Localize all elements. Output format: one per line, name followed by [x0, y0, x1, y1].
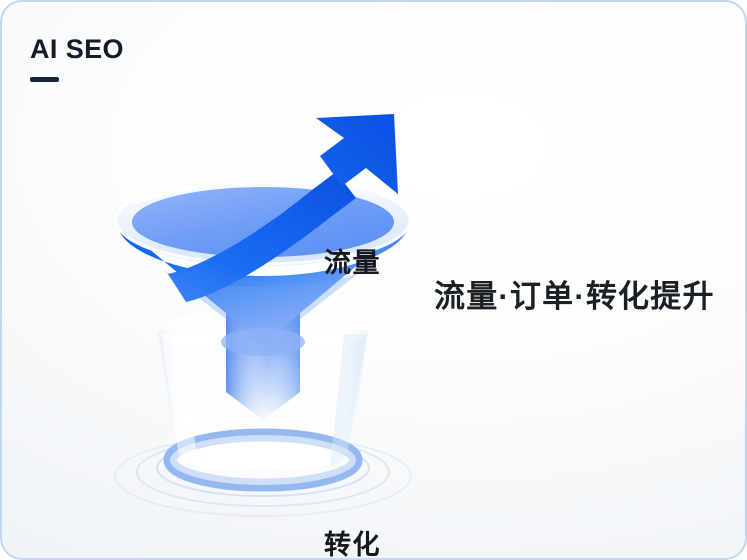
conversion-funnel-illustration: 流量 转化 [98, 98, 428, 528]
page-title: AI SEO [30, 36, 124, 63]
title-underline-rule-icon [30, 77, 59, 82]
title-block: AI SEO [30, 36, 124, 82]
funnel-graphic-icon [98, 98, 428, 528]
slide-canvas: AI SEO 流量·订单·转化提升 [0, 0, 747, 560]
tagline-text: 流量·订单·转化提升 [434, 278, 715, 315]
funnel-label-conversion: 转化 [324, 532, 381, 559]
funnel-label-traffic: 流量 [324, 250, 381, 277]
